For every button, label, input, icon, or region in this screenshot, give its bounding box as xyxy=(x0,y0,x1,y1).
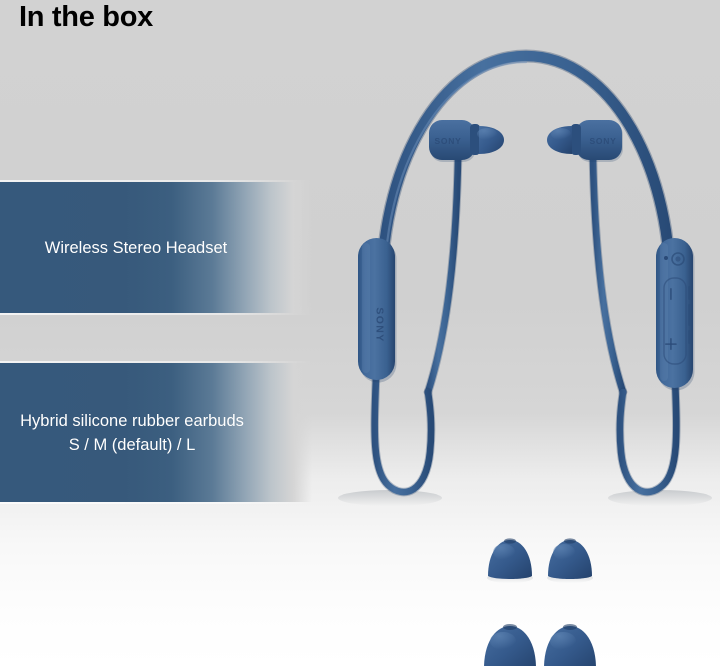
callout-banner-wireless-stereo-headset: Wireless Stereo Headset xyxy=(0,182,312,313)
right-earbud: SONY xyxy=(547,120,623,162)
right-control-module xyxy=(656,238,695,391)
lower-cable-loops xyxy=(338,378,712,506)
page-title: In the box xyxy=(19,0,153,36)
sony-logo-left-earbud: SONY xyxy=(435,136,462,146)
callout-label-wireless-stereo-headset: Wireless Stereo Headset xyxy=(45,236,268,260)
callout-label-hybrid-silicone-rubber-earbuds: Hybrid silicone rubber earbuds S / M (de… xyxy=(20,409,292,457)
left-earbud: SONY xyxy=(429,120,504,162)
left-control-module: SONY xyxy=(358,238,397,383)
product-photo-wireless-stereo-headset: SONY xyxy=(330,0,720,666)
eartips-small-pair xyxy=(487,538,593,583)
callout-banner-hybrid-silicone-rubber-earbuds: Hybrid silicone rubber earbuds S / M (de… xyxy=(0,363,312,502)
neckband-cable xyxy=(382,56,670,300)
earbud-cables xyxy=(428,160,623,392)
sony-logo-left-module: SONY xyxy=(374,307,386,342)
in-the-box-page: In the box Wireless Stereo Headset Hybri… xyxy=(0,0,720,666)
eartips-large-pair xyxy=(483,624,597,666)
module-side-ridges xyxy=(688,286,690,344)
indicator-led xyxy=(664,256,668,260)
sony-logo-right-earbud: SONY xyxy=(590,136,617,146)
